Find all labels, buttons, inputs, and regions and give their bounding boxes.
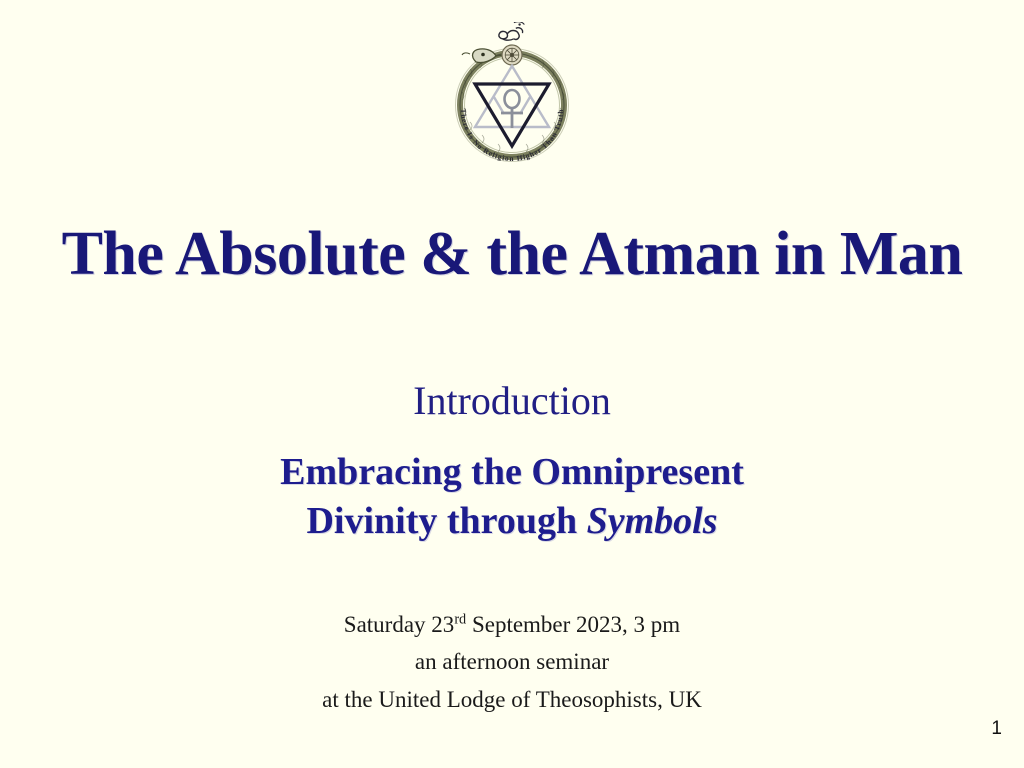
event-date-ordinal: rd [454, 611, 466, 627]
event-date-line: Saturday 23rd September 2023, 3 pm [0, 606, 1024, 643]
heading-line-1: Embracing the Omnipresent [0, 448, 1024, 497]
presentation-slide: There Is No Religion Higher Than Truth T… [0, 0, 1024, 768]
event-venue-line: at the United Lodge of Theosophists, UK [0, 681, 1024, 718]
theosophical-society-seal-icon: There Is No Religion Higher Than Truth [442, 22, 582, 164]
page-number: 1 [991, 718, 1002, 740]
interlaced-triangles-icon [475, 66, 549, 146]
ankh-icon [501, 90, 523, 128]
swastika-rosette-icon [502, 45, 522, 65]
event-description-line: an afternoon seminar [0, 643, 1024, 680]
heading-line-2-prefix: Divinity through [306, 500, 586, 542]
event-date-prefix: Saturday 23 [344, 612, 455, 637]
emblem-container: There Is No Religion Higher Than Truth [0, 22, 1024, 164]
om-symbol-icon [499, 22, 524, 40]
slide-title: The Absolute & the Atman in Man [0, 222, 1024, 287]
heading-line-2-emphasis: Symbols [587, 500, 718, 542]
slide-subtitle: Introduction [0, 379, 1024, 423]
heading-line-2: Divinity through Symbols [0, 497, 1024, 546]
event-details: Saturday 23rd September 2023, 3 pm an af… [0, 606, 1024, 718]
slide-heading: Embracing the Omnipresent Divinity throu… [0, 448, 1024, 546]
event-date-suffix: September 2023, 3 pm [466, 612, 680, 637]
